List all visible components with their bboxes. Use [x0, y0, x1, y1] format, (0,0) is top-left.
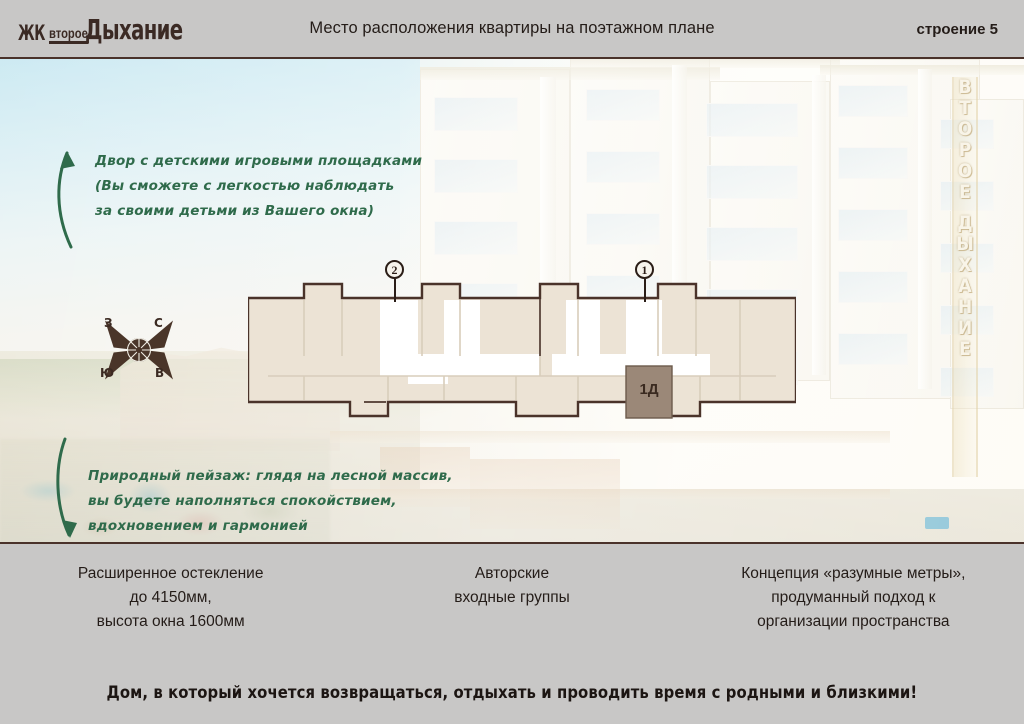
floor-plan-outline[interactable]	[248, 280, 796, 421]
entrance-marker-2[interactable]: 2	[385, 260, 404, 302]
feature-smart-line-2: продуманный подход к	[771, 589, 935, 606]
feature-entrance-line-1: Авторские	[475, 565, 549, 582]
feature-smart-line-1: Концепция «разумные метры»,	[741, 565, 965, 582]
compass-label-north: С	[154, 316, 163, 330]
compass-label-west: З	[104, 316, 113, 330]
courtyard-note-line-1: Двор с детскими игровыми площадками	[95, 149, 422, 174]
feature-glazing-line-1: Расширенное остекление	[78, 565, 264, 582]
feature-entrance-groups: Авторские входные группы	[341, 546, 682, 659]
nature-note: Природный пейзаж: глядя на лесной массив…	[88, 464, 453, 539]
highlighted-unit-label: 1Д	[626, 381, 672, 398]
footer-bar: Дом, в который хочется возвращаться, отд…	[0, 659, 1024, 724]
arrow-up-icon	[52, 139, 86, 249]
blue-signboard-photo	[925, 517, 949, 529]
photo-stage: В Т О Р О Е Д Ы Х А Н И Е	[0, 57, 1024, 544]
compass-label-south: Ю	[100, 366, 114, 380]
entrance-marker-1[interactable]: 1	[635, 260, 654, 302]
building-number-label: строение 5	[917, 21, 999, 38]
building-facade-photo	[420, 59, 1024, 489]
balcony-strip-photo	[330, 431, 890, 443]
building-vertical-sign: В Т О Р О Е Д Ы Х А Н И Е	[952, 77, 978, 477]
nature-note-line-3: вдохновением и гармонией	[88, 514, 453, 539]
footer-slogan: Дом, в который хочется возвращаться, отд…	[107, 683, 918, 703]
courtyard-note-line-3: за своими детьми из Вашего окна)	[95, 199, 422, 224]
nature-note-line-2: вы будете наполняться спокойствием,	[88, 489, 453, 514]
feature-smart-line-3: организации пространства	[757, 613, 949, 630]
feature-smart-meters: Концепция «разумные метры», продуманный …	[683, 546, 1024, 659]
feature-glazing: Расширенное остекление до 4150мм, высота…	[0, 546, 341, 659]
entrance-marker-1-label: 1	[635, 260, 654, 279]
feature-glazing-line-3: высота окна 1600мм	[97, 613, 245, 630]
courtyard-note: Двор с детскими игровыми площадками (Вы …	[95, 149, 422, 224]
compass-rose: З С Ю В	[96, 314, 182, 386]
floor-plan-infographic: ЖК второе Дыхание Место расположения ква…	[0, 0, 1024, 724]
nature-note-line-1: Природный пейзаж: глядя на лесной массив…	[88, 464, 453, 489]
arrow-down-icon	[52, 437, 86, 544]
feature-entrance-line-2: входные группы	[454, 589, 570, 606]
feature-glazing-line-2: до 4150мм,	[130, 589, 212, 606]
header-bar: ЖК второе Дыхание Место расположения ква…	[0, 0, 1024, 57]
features-strip: Расширенное остекление до 4150мм, высота…	[0, 546, 1024, 659]
entrance-marker-2-label: 2	[385, 260, 404, 279]
marker-stem	[644, 279, 646, 302]
entrance-canopy-photo	[470, 459, 620, 529]
compass-label-east: В	[155, 366, 164, 380]
page-title: Место расположения квартиры на поэтажном…	[0, 19, 1024, 38]
courtyard-note-line-2: (Вы сможете с легкостью наблюдать	[95, 174, 422, 199]
marker-stem	[394, 279, 396, 302]
